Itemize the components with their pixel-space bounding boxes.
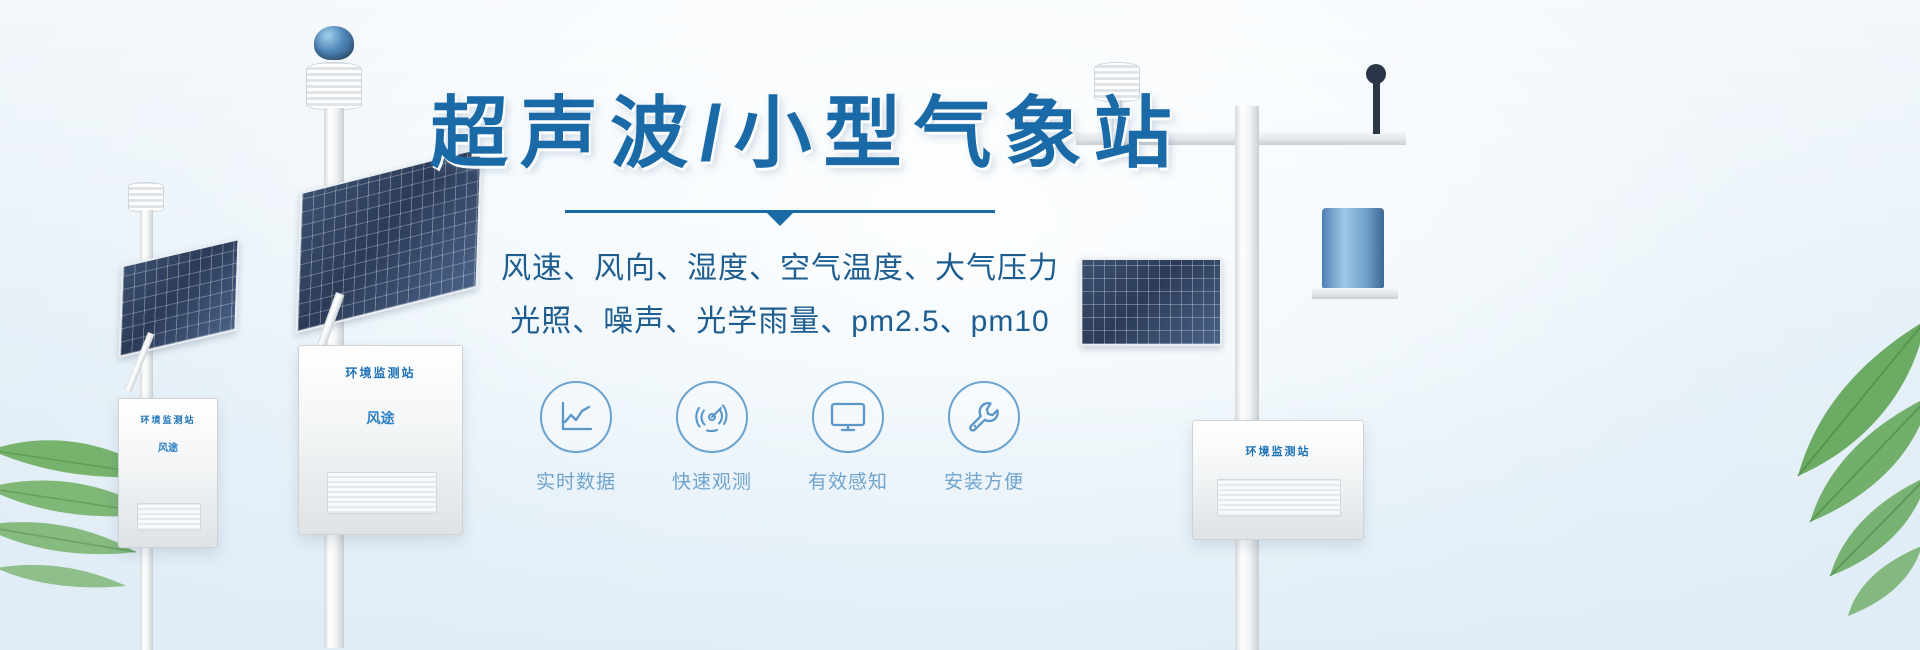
feature-label: 实时数据	[531, 467, 621, 494]
monitor-screen-icon	[829, 401, 867, 433]
feature-item-fast-observation[interactable]: 快速观测	[667, 381, 757, 494]
page-title: 超声波/小型气象站	[430, 90, 1130, 177]
cabinet-vent	[327, 472, 437, 514]
cabinet-vent	[137, 503, 201, 531]
radiation-shield-icon	[306, 62, 362, 110]
caret-down-icon	[767, 213, 793, 226]
feature-item-easy-install[interactable]: 安装方便	[939, 381, 1029, 494]
feature-list: 实时数据 快	[430, 381, 1130, 494]
enclosure-cabinet: 环境监测站 风途	[118, 398, 218, 548]
sky-dome-sensor-icon	[314, 26, 354, 60]
cabinet-brand: 风途	[119, 439, 217, 454]
solar-panel	[118, 238, 239, 358]
feature-circle	[540, 381, 612, 453]
feature-label: 安装方便	[939, 467, 1029, 494]
feature-circle	[948, 381, 1020, 453]
gauge-shelf	[1312, 288, 1398, 299]
feature-circle	[812, 381, 884, 453]
product-banner: 环境监测站 风途 环境监测站 风途 环境监测站 超	[0, 0, 1920, 650]
line-chart-icon	[558, 400, 594, 434]
feature-circle	[676, 381, 748, 453]
cabinet-tagline: 环境监测站	[1193, 443, 1363, 459]
subtitle-line-1: 风速、风向、湿度、空气温度、大气压力	[430, 245, 1130, 294]
wrench-tool-icon	[966, 399, 1002, 435]
cabinet-vent	[1217, 479, 1341, 517]
subtitle-line-2: 光照、噪声、光学雨量、pm2.5、pm10	[430, 298, 1130, 347]
rain-gauge-sensor-icon	[1322, 208, 1384, 288]
weather-station-small-left: 环境监测站 风途	[100, 180, 270, 650]
feature-item-realtime-data[interactable]: 实时数据	[531, 381, 621, 494]
feature-label: 有效感知	[803, 467, 893, 494]
enclosure-cabinet: 环境监测站	[1192, 420, 1364, 540]
cabinet-tagline: 环境监测站	[119, 413, 217, 426]
anemometer-mast	[1373, 80, 1380, 134]
station-pole	[1235, 106, 1259, 650]
radiation-shield-icon	[128, 182, 164, 212]
leaf-decoration-right	[1630, 300, 1920, 620]
radar-signal-icon	[694, 399, 730, 435]
feature-label: 快速观测	[667, 467, 757, 494]
feature-item-effective-sensing[interactable]: 有效感知	[803, 381, 893, 494]
title-divider	[565, 207, 995, 223]
banner-content: 超声波/小型气象站 风速、风向、湿度、空气温度、大气压力 光照、噪声、光学雨量、…	[430, 90, 1130, 494]
